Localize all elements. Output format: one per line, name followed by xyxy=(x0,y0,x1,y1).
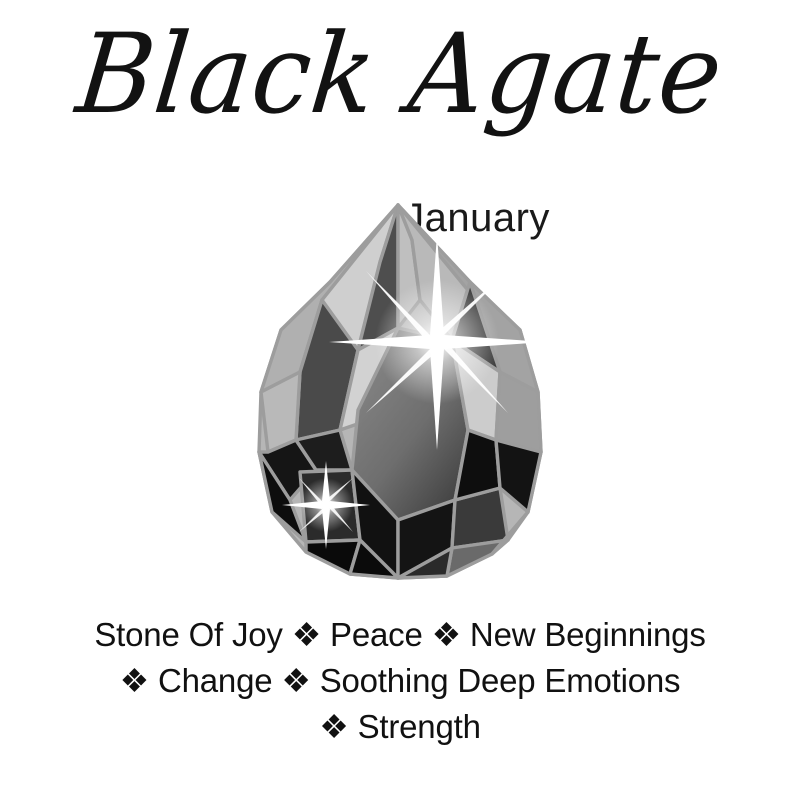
birthstone-graphic-canvas: Black Agate January xyxy=(0,0,800,800)
keyword-line-1: Stone Of Joy ❖ Peace ❖ New Beginnings xyxy=(0,612,800,658)
keyword-line-2: ❖ Change ❖ Soothing Deep Emotions xyxy=(0,658,800,704)
keyword-list: Stone Of Joy ❖ Peace ❖ New Beginnings ❖ … xyxy=(0,612,800,750)
keyword-line-3: ❖ Strength xyxy=(0,704,800,750)
